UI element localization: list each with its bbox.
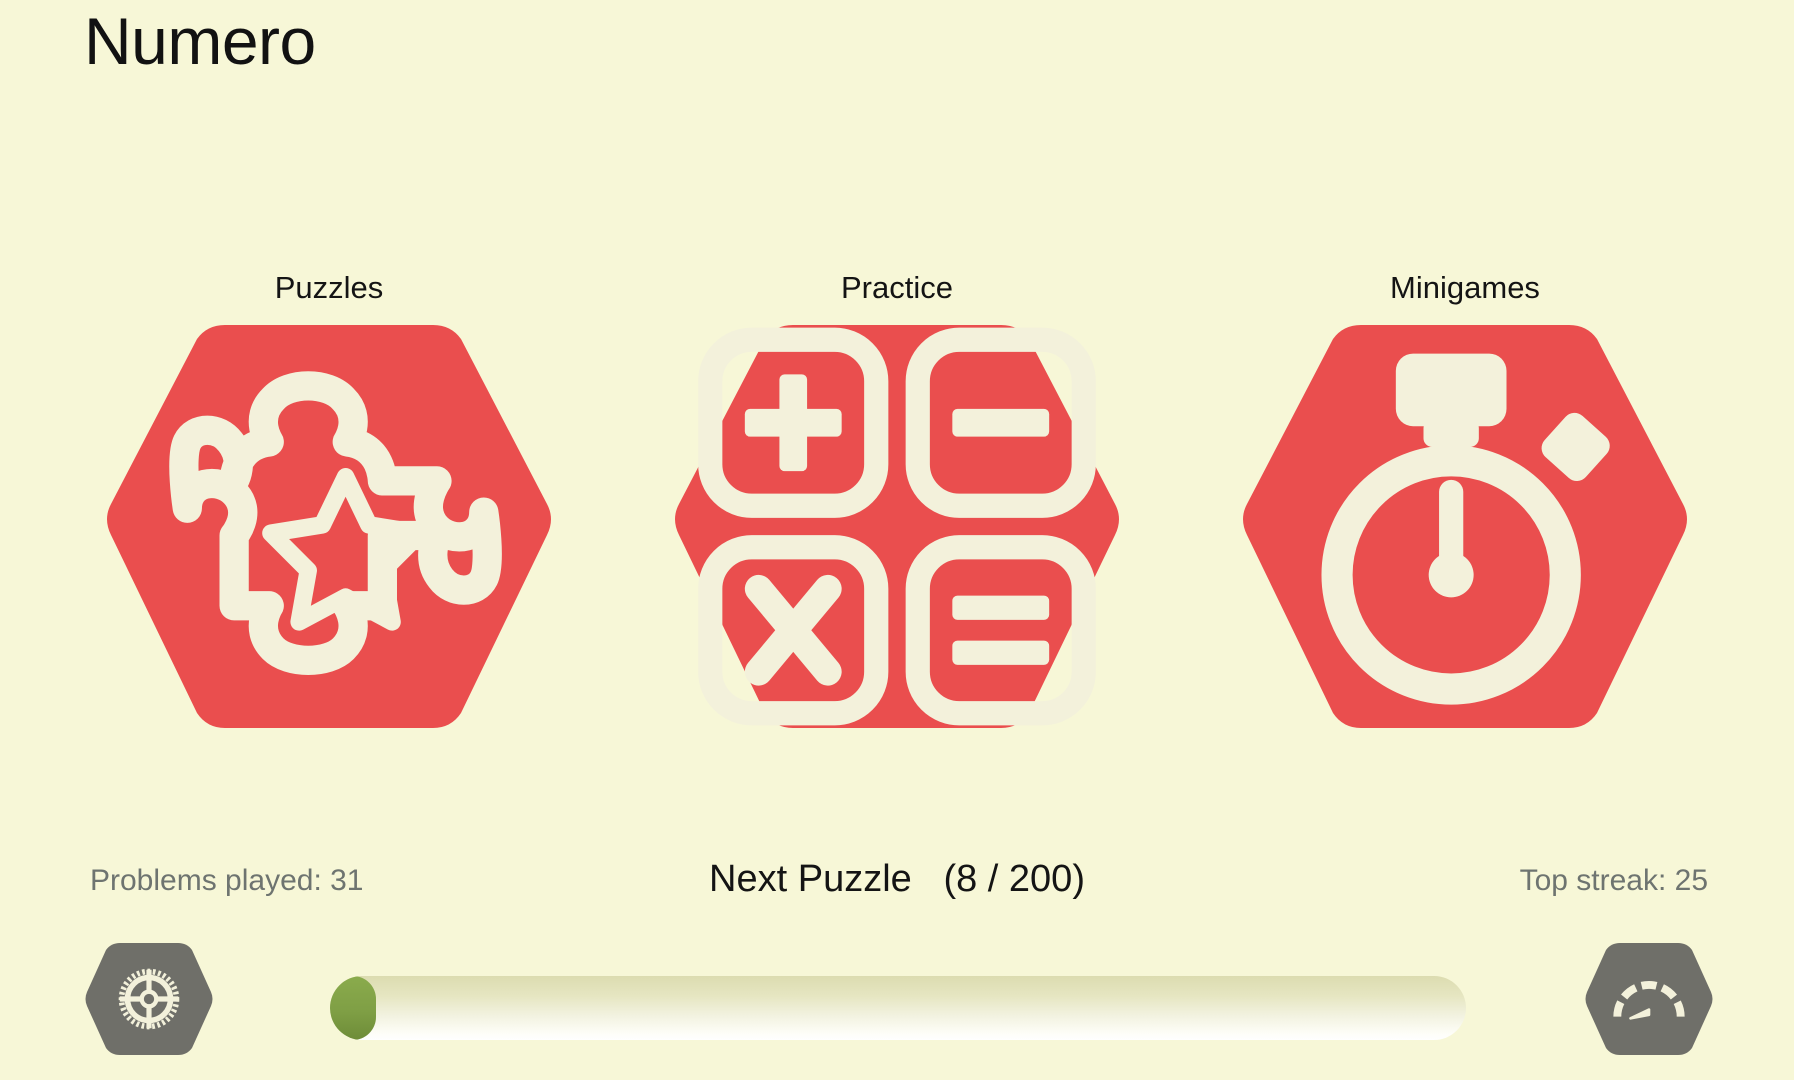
puzzle-piece-star-icon <box>103 319 555 734</box>
settings-button[interactable] <box>84 940 214 1058</box>
menu-tile-label-practice: Practice <box>841 272 953 303</box>
stopwatch-icon <box>1239 319 1691 734</box>
menu-tile-label-puzzles: Puzzles <box>275 272 384 303</box>
menu-tile-label-minigames: Minigames <box>1390 272 1540 303</box>
progress-bar-fill <box>330 976 376 1040</box>
menu-tile-puzzles[interactable]: Puzzles <box>103 272 555 734</box>
gear-crosshair-icon <box>84 940 214 1058</box>
calculator-keys-icon <box>671 319 1123 734</box>
game-main-menu-screen: Numero Puzzles <box>0 0 1794 1080</box>
speedometer-gauge-icon <box>1584 940 1714 1058</box>
page-title: Numero <box>84 4 316 80</box>
hex-button-practice[interactable] <box>671 319 1123 734</box>
top-streak-label: Top streak: 25 <box>1520 866 1708 896</box>
hex-button-puzzles[interactable] <box>103 319 555 734</box>
menu-tile-minigames[interactable]: Minigames <box>1239 272 1691 734</box>
hex-button-minigames[interactable] <box>1239 319 1691 734</box>
main-menu-hex-row: Puzzles Pract <box>0 272 1794 734</box>
next-puzzle-progress-bar[interactable] <box>330 976 1466 1040</box>
stats-button[interactable] <box>1584 940 1714 1058</box>
menu-tile-practice[interactable]: Practice <box>671 272 1123 734</box>
